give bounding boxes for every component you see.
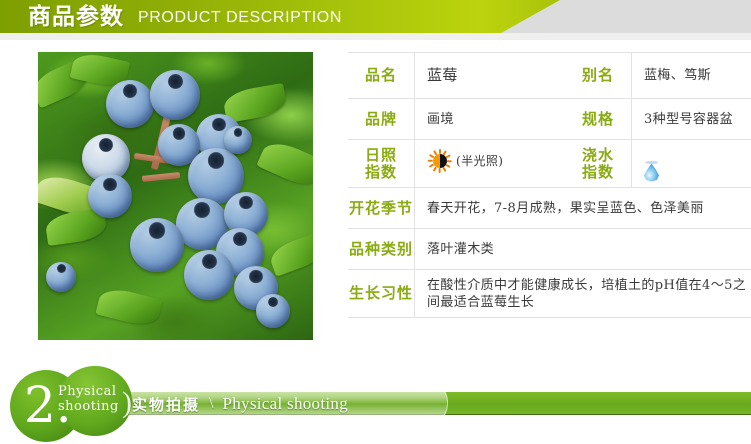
spec-label-line2: 指数 (348, 164, 414, 181)
banner-text-group: 实物拍摄 \ Physical shooting (132, 393, 348, 415)
spec-label: 规格 (565, 99, 632, 140)
badge-label-line2: shooting (58, 399, 119, 414)
spec-value (632, 140, 751, 188)
table-row: 生长习性 在酸性介质中才能健康成长，培植土的pH值在4～5之间最适合蓝莓生长 (348, 270, 751, 318)
blueberry (224, 126, 252, 154)
blueberry (256, 294, 290, 328)
spec-value: 蓝梅、笃斯 (632, 53, 751, 99)
spec-value: 蓝莓 (415, 53, 566, 99)
table-row: 日照 指数 (348, 140, 751, 188)
spec-value: 落叶灌木类 (415, 229, 751, 270)
spec-value: (半光照) (415, 140, 566, 188)
spec-value: 在酸性介质中才能健康成长，培植土的pH值在4～5之间最适合蓝莓生长 (415, 270, 751, 318)
table-row: 品名 蓝莓 别名 蓝梅、笃斯 (348, 53, 751, 99)
blueberry (130, 218, 184, 272)
spec-label-line1: 浇水 (565, 147, 631, 164)
banner-title-cn: 实物拍摄 (132, 394, 200, 415)
half-sun-icon (429, 150, 451, 172)
spec-label-line2: 指数 (565, 164, 631, 181)
spec-label: 品种类别 (348, 229, 415, 270)
blueberry (184, 250, 234, 300)
blueberry (88, 174, 132, 218)
blueberry (46, 262, 76, 292)
product-spec-table: 品名 蓝莓 别名 蓝梅、笃斯 品牌 画境 规格 3种型号容器盆 日照 指数 (348, 52, 751, 318)
header-underline-highlight (0, 33, 560, 40)
spec-value: 春天开花，7-8月成熟，果实呈蓝色、色泽美丽 (415, 188, 751, 229)
product-photo (38, 52, 313, 340)
spec-value: 画境 (415, 99, 566, 140)
section-number-badge: 2. Physical shooting ) (10, 366, 140, 444)
spec-label: 浇水 指数 (565, 140, 632, 188)
spec-label-line1: 日照 (348, 147, 414, 164)
table-row: 品种类别 落叶灌木类 (348, 229, 751, 270)
spec-label: 别名 (565, 53, 632, 99)
sun-caption: (半光照) (456, 153, 503, 170)
badge-label: Physical shooting (58, 384, 119, 414)
badge-paren: ) (122, 388, 132, 418)
spec-label: 生长习性 (348, 270, 415, 318)
spec-label: 开花季节 (348, 188, 415, 229)
banner-separator: \ (209, 395, 213, 413)
spec-value: 3种型号容器盆 (632, 99, 751, 140)
table-row: 品牌 画境 规格 3种型号容器盆 (348, 99, 751, 140)
spec-label: 日照 指数 (348, 140, 415, 188)
banner-title-en: Physical shooting (222, 394, 348, 414)
page-title-cn: 商品参数 (28, 2, 124, 32)
badge-label-line1: Physical (58, 384, 119, 399)
page-header: 商品参数 PRODUCT DESCRIPTION (0, 0, 751, 40)
table-row: 开花季节 春天开花，7-8月成熟，果实呈蓝色、色泽美丽 (348, 188, 751, 229)
spec-label: 品名 (348, 53, 415, 99)
page-title-en: PRODUCT DESCRIPTION (138, 7, 342, 29)
blueberry (150, 70, 200, 120)
blueberry (106, 80, 154, 128)
spec-label: 品牌 (348, 99, 415, 140)
